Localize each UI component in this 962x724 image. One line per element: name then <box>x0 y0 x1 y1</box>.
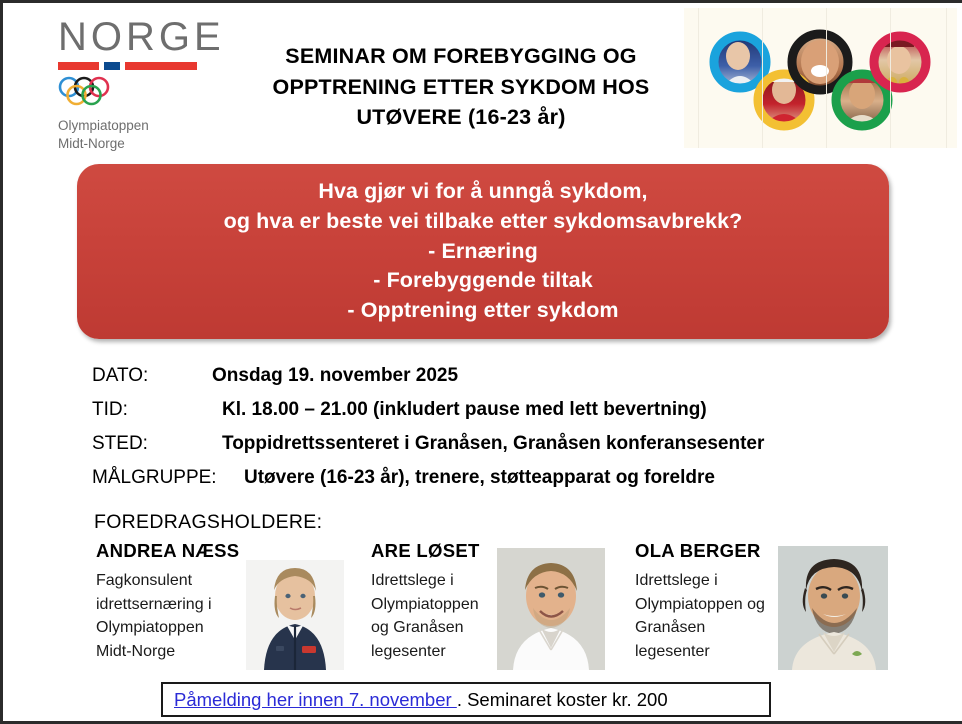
speaker-role: Idrettslege i Olympiatoppen og Granåsen … <box>371 569 496 664</box>
speaker-name: ANDREA NÆSS <box>96 540 241 562</box>
banner-line-1: Hva gjør vi for å unngå sykdom, <box>318 177 647 207</box>
title-line-2: OPPTRENING ETTER SYKDOM HOS <box>246 72 676 103</box>
banner-line-4: - Forebyggende tiltak <box>373 266 593 296</box>
registration-link[interactable]: Påmelding her innen 7. november <box>174 689 457 710</box>
title-line-1: SEMINAR OM FOREBYGGING OG <box>246 41 676 72</box>
seminar-poster: NORGE Olympiatoppen Midt-Norge <box>0 0 962 724</box>
detail-value-dato: Onsdag 19. november 2025 <box>212 365 458 387</box>
detail-row-sted: STED: Toppidrettssenteret i Granåsen, Gr… <box>92 433 892 467</box>
detail-row-tid: TID: Kl. 18.00 – 21.00 (inkludert pause … <box>92 399 892 433</box>
detail-label-dato: DATO: <box>92 365 212 387</box>
olympiatoppen-logo: NORGE Olympiatoppen Midt-Norge <box>58 17 258 153</box>
detail-value-sted: Toppidrettssenteret i Granåsen, Granåsen… <box>212 433 764 455</box>
speaker-are-loset: ARE LØSET Idrettslege i Olympiatoppen og… <box>371 540 496 664</box>
detail-row-dato: DATO: Onsdag 19. november 2025 <box>92 365 892 399</box>
detail-label-sted: STED: <box>92 433 212 455</box>
registration-box[interactable]: Påmelding her innen 7. november . Semina… <box>161 682 771 717</box>
detail-label-tid: TID: <box>92 399 212 421</box>
banner-line-3: - Ernæring <box>428 237 538 267</box>
banner-line-5: - Opptrening etter sykdom <box>347 296 618 326</box>
avatar-andrea-naess <box>246 560 344 670</box>
speaker-name: OLA BERGER <box>635 540 765 562</box>
detail-value-tid: Kl. 18.00 – 21.00 (inkludert pause med l… <box>212 399 707 421</box>
olympic-rings-photo-collage-icon <box>684 8 957 148</box>
registration-price-text: . Seminaret koster kr. 200 <box>457 689 668 710</box>
avatar-ola-berger <box>778 546 888 670</box>
detail-label-malgruppe: MÅLGRUPPE: <box>92 467 242 489</box>
speakers-heading: FOREDRAGSHOLDERE: <box>94 511 322 534</box>
olympic-rings-logo-icon <box>58 76 126 108</box>
logo-subtitle-line1: Olympiatoppen <box>58 117 258 135</box>
title-line-3: UTØVERE (16-23 år) <box>246 102 676 133</box>
event-details: DATO: Onsdag 19. november 2025 TID: Kl. … <box>92 365 892 501</box>
main-message-banner: Hva gjør vi for å unngå sykdom, og hva e… <box>77 164 889 339</box>
speaker-name: ARE LØSET <box>371 540 496 562</box>
page-title: SEMINAR OM FOREBYGGING OG OPPTRENING ETT… <box>246 41 676 133</box>
speaker-andrea-naess: ANDREA NÆSS Fagkonsulent idrettsernæring… <box>96 540 241 664</box>
banner-line-2: og hva er beste vei tilbake etter sykdom… <box>224 207 743 237</box>
speaker-role: Fagkonsulent idrettsernæring i Olympiato… <box>96 569 241 664</box>
norwegian-flag-icon <box>58 62 197 70</box>
speaker-ola-berger: OLA BERGER Idrettslege i Olympiatoppen o… <box>635 540 765 664</box>
speaker-role: Idrettslege i Olympiatoppen og Granåsen … <box>635 569 765 664</box>
logo-subtitle: Olympiatoppen Midt-Norge <box>58 117 258 153</box>
detail-row-malgruppe: MÅLGRUPPE: Utøvere (16-23 år), trenere, … <box>92 467 892 501</box>
detail-value-malgruppe: Utøvere (16-23 år), trenere, støtteappar… <box>242 467 715 489</box>
logo-subtitle-line2: Midt-Norge <box>58 135 258 153</box>
registration-text: Påmelding her innen 7. november . Semina… <box>163 689 668 711</box>
avatar-are-loset <box>497 548 605 670</box>
logo-wordmark: NORGE <box>58 17 258 57</box>
poster-header: NORGE Olympiatoppen Midt-Norge <box>3 3 962 155</box>
